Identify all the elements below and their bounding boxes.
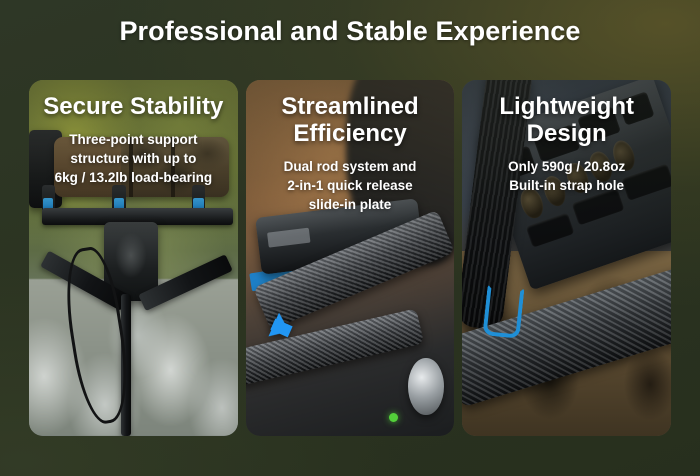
feature-card-list: Secure Stability Three-point support str… — [29, 80, 671, 436]
card-body: Only 590g / 20.8oz Built-in strap hole — [462, 157, 671, 195]
card-heading-line: Streamlined — [281, 93, 418, 120]
card-body-line: slide-in plate — [256, 195, 445, 214]
feature-card-secure-stability[interactable]: Secure Stability Three-point support str… — [29, 80, 238, 436]
riverbed-rocks — [29, 279, 238, 436]
card-body: Dual rod system and 2-in-1 quick release… — [246, 157, 455, 214]
card-body-line: 2-in-1 quick release — [256, 176, 445, 195]
card-text-block: Secure Stability Three-point support str… — [29, 80, 238, 187]
card-heading: Secure Stability — [29, 94, 238, 121]
card-body: Three-point support structure with up to… — [29, 130, 238, 187]
card-text-block: Lightweight Design Only 590g / 20.8oz Bu… — [462, 80, 671, 195]
adjustment-knob — [408, 358, 443, 415]
card-body-line: Only 590g / 20.8oz — [472, 157, 661, 176]
indicator-light — [389, 413, 398, 422]
card-heading-line: Lightweight — [499, 93, 634, 120]
card-text-block: Streamlined Efficiency Dual rod system a… — [246, 80, 455, 214]
card-heading: Streamlined Efficiency — [246, 94, 455, 148]
card-body-line: Three-point support — [39, 130, 228, 149]
card-body-line: Dual rod system and — [256, 157, 445, 176]
feature-card-streamlined-efficiency[interactable]: Streamlined Efficiency Dual rod system a… — [246, 80, 455, 436]
card-body-line: Built-in strap hole — [472, 176, 661, 195]
card-body-line: 6kg / 13.2lb load-bearing — [39, 168, 228, 187]
card-heading-line: Design — [527, 120, 607, 147]
card-heading: Lightweight Design — [462, 94, 671, 148]
page-title: Professional and Stable Experience — [0, 16, 700, 47]
feature-card-lightweight-design[interactable]: Lightweight Design Only 590g / 20.8oz Bu… — [462, 80, 671, 436]
promo-banner: Professional and Stable Experience — [0, 0, 700, 476]
strap-hole-loop — [483, 285, 525, 339]
card-body-line: structure with up to — [39, 149, 228, 168]
card-heading-line: Efficiency — [293, 120, 406, 147]
